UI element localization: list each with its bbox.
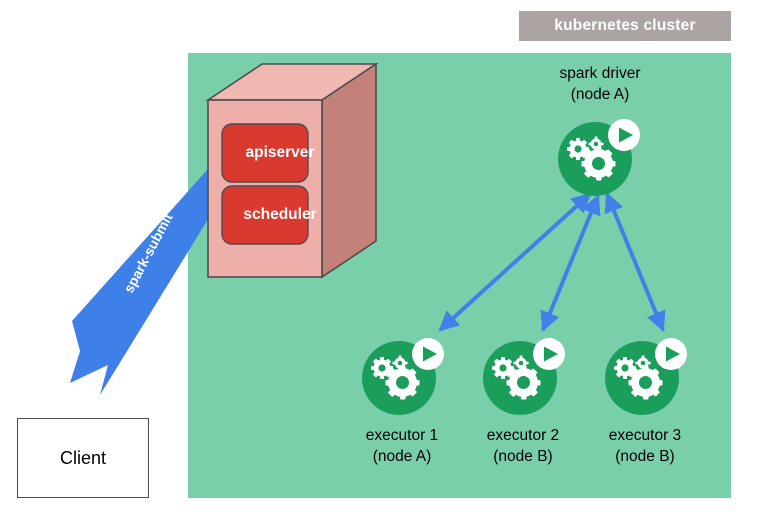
executor-3-caption: executor 3 (node B) — [565, 425, 725, 467]
scheduler-box — [222, 186, 308, 244]
kubernetes-cluster-label: kubernetes cluster — [519, 11, 731, 41]
spark-driver-caption: spark driver (node A) — [520, 63, 680, 105]
executor-1-node-icon[interactable] — [356, 327, 450, 421]
control-plane-cube: apiserver scheduler — [200, 60, 380, 285]
cube-side-face — [322, 64, 376, 277]
spark-driver-node-icon[interactable] — [552, 108, 646, 202]
client-label: Client — [60, 448, 106, 469]
client-box[interactable]: Client — [17, 418, 149, 498]
diagram-canvas: kubernetes cluster spark-submit Client a… — [0, 0, 761, 516]
spark-submit-arrow — [60, 165, 220, 405]
executor-3-node-icon[interactable] — [599, 327, 693, 421]
apiserver-box — [222, 124, 308, 182]
executor-2-node-icon[interactable] — [477, 327, 571, 421]
